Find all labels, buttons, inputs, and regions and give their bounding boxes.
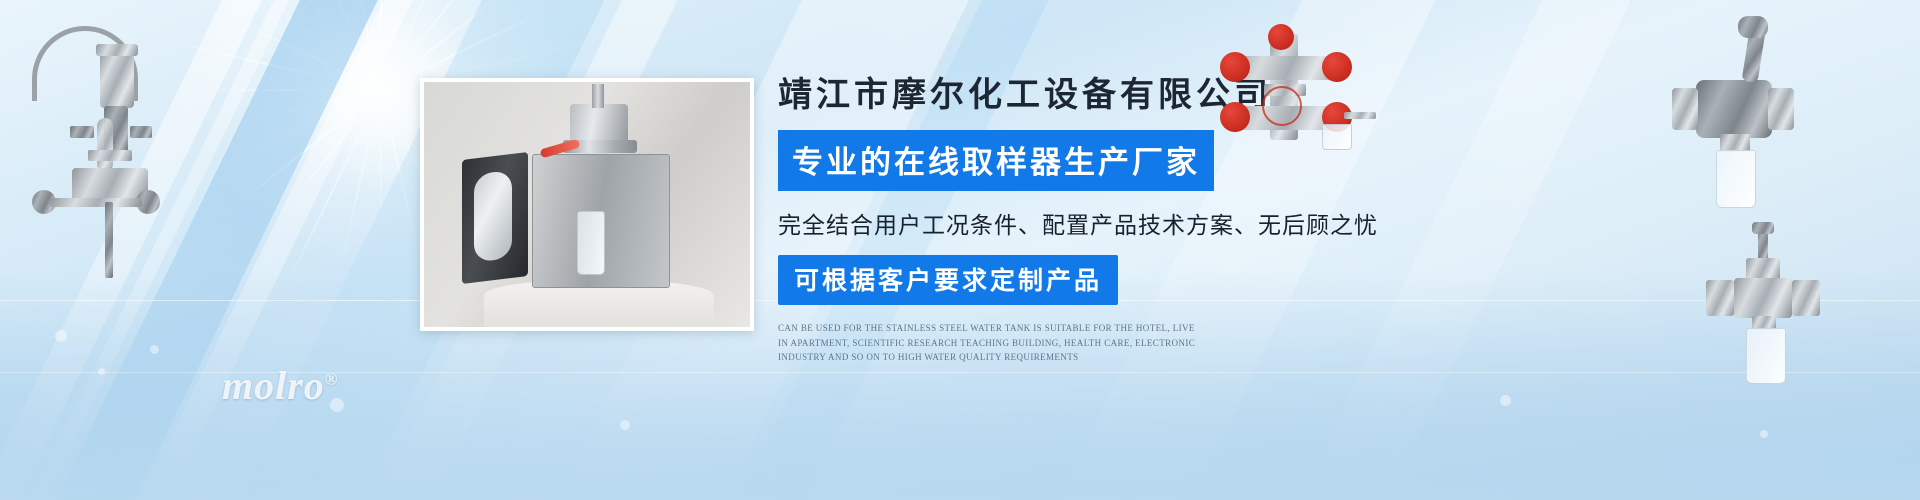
sight-glass (97, 118, 113, 172)
watermark-text: molro (222, 363, 325, 408)
watermark-logo: molro® (222, 362, 339, 409)
headline-highlight: 专业的在线取样器生产厂家 (778, 130, 1214, 191)
product-banner: 靖江市摩尔化工设备有限公司 专业的在线取样器生产厂家 完全结合用户工况条件、配置… (0, 0, 1920, 500)
valve-bonnet (1746, 258, 1780, 280)
sun-ray (380, 90, 417, 245)
registered-mark-icon: ® (325, 370, 339, 389)
sun-ray (338, 90, 382, 273)
side-fitting (70, 126, 94, 138)
outlet-tube (1344, 112, 1376, 119)
sun-ray (192, 89, 381, 91)
sun-ray (380, 90, 382, 240)
sun-ray (233, 89, 382, 125)
right-equipment-image (1668, 22, 1798, 212)
probe-cap (96, 44, 138, 56)
bubble (1760, 430, 1768, 438)
top-right-equipment-image (1218, 28, 1378, 146)
door-window (474, 170, 512, 263)
valve-flange-right (1792, 280, 1820, 316)
sample-bottle (1716, 150, 1756, 208)
sun-ray (338, 0, 382, 90)
connector-pipe (50, 198, 142, 207)
sampler-cabinet (532, 154, 670, 288)
sun-ray (286, 89, 382, 208)
sun-ray (283, 90, 382, 293)
valve-flange-left (1706, 280, 1734, 316)
valve-flange-left (1672, 88, 1698, 130)
left-equipment-image (14, 22, 174, 282)
probe-rod (105, 202, 113, 278)
sun-ray (239, 0, 382, 91)
valve-flange-right (1768, 88, 1794, 130)
sun-ray (380, 0, 465, 90)
probe-housing (100, 50, 134, 108)
valve-body (1734, 278, 1792, 318)
valve-stem (592, 84, 604, 108)
sun-ray (380, 0, 382, 90)
company-seal-logo (1262, 86, 1302, 126)
sample-bottle (577, 211, 605, 275)
red-handwheel-icon (1220, 52, 1250, 82)
sun-ray (232, 0, 382, 91)
product-photo (420, 78, 754, 331)
sun-ray (380, 0, 416, 90)
sun-ray (233, 89, 381, 208)
red-handwheel-icon (1268, 24, 1294, 50)
gear-operator-housing (1696, 80, 1772, 138)
sun-ray (160, 39, 381, 91)
side-fitting (130, 126, 152, 138)
english-description: CAN BE USED FOR THE STAINLESS STEEL WATE… (778, 321, 1198, 366)
cabinet-door (462, 152, 528, 284)
bubble (620, 420, 630, 430)
gear-lever-head (1738, 16, 1768, 38)
bubble (98, 368, 105, 375)
sun-ray (178, 89, 382, 188)
red-handwheel-icon (1220, 102, 1250, 132)
valve-stem-cap (1752, 222, 1774, 234)
probe-flange (88, 150, 132, 161)
bubble (150, 345, 159, 354)
bubble (1500, 395, 1511, 406)
sample-bottle (1746, 328, 1786, 384)
bubble (55, 330, 67, 342)
red-handwheel-icon (1322, 52, 1352, 82)
bottom-right-equipment-image (1700, 228, 1830, 383)
callout-highlight: 可根据客户要求定制产品 (778, 255, 1118, 305)
sun-ray (243, 23, 382, 91)
sun-ray (313, 0, 382, 90)
product-photo-scene (424, 82, 750, 327)
sub-headline: 完全结合用户工况条件、配置产品技术方案、无后顾之忧 (778, 206, 1418, 240)
sample-beaker (1322, 124, 1352, 150)
